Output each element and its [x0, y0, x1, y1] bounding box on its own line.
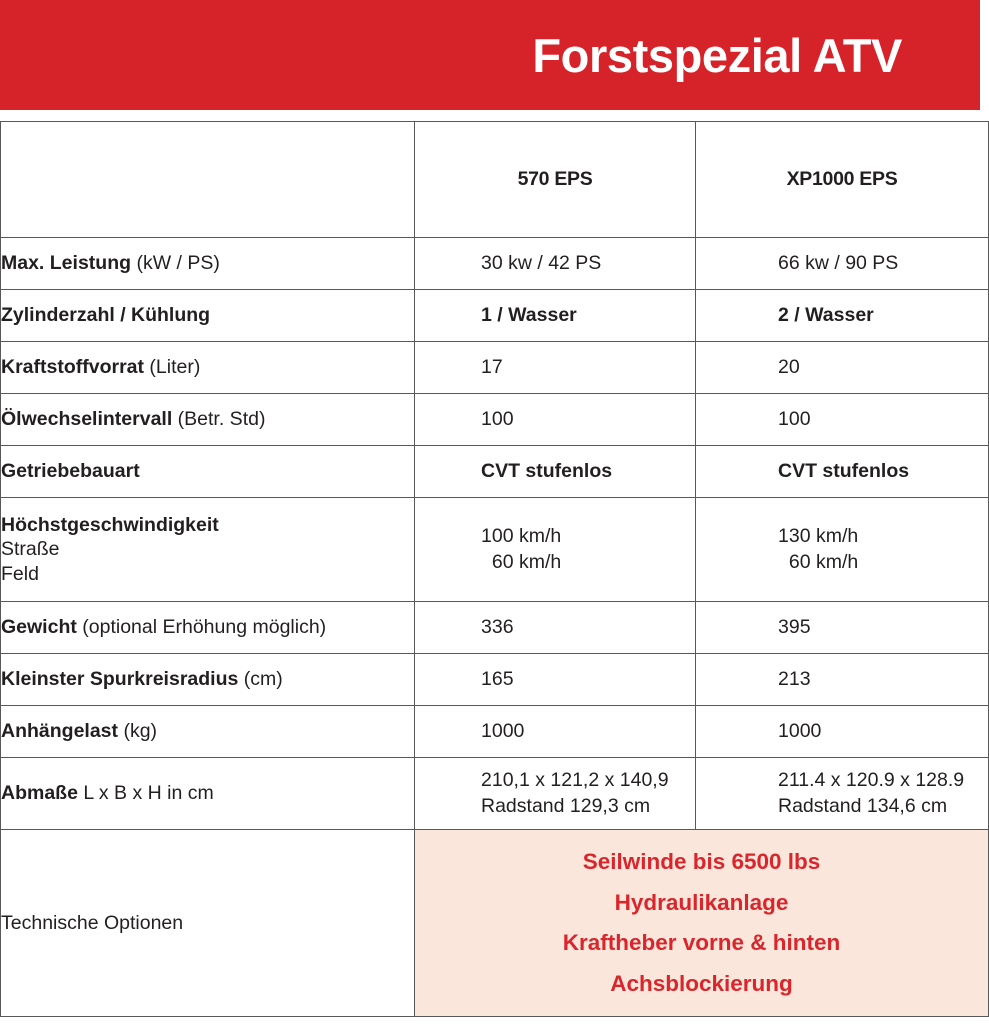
row-value-model-b: 2 / Wasser — [696, 290, 989, 342]
specification-table: 570 EPS XP1000 EPS Max. Leistung (kW / P… — [0, 121, 989, 1017]
row-value-model-a: 30 kw / 42 PS — [415, 238, 696, 290]
table-row-technical-options: Technische Optionen Seilwinde bis 6500 l… — [1, 830, 989, 1017]
table-row: Kleinster Spurkreisradius (cm) 165 213 — [1, 654, 989, 706]
row-value-model-a: 100 — [415, 394, 696, 446]
table-row: Kraftstoffvorrat (Liter) 17 20 — [1, 342, 989, 394]
row-value-model-b: 100 — [696, 394, 989, 446]
row-label-sub-field: Feld — [1, 562, 414, 586]
row-value-model-a: 210,1 x 121,2 x 140,9 Radstand 129,3 cm — [415, 758, 696, 830]
row-label-main: Kleinster Spurkreisradius — [1, 668, 238, 690]
row-value-model-b: 395 — [696, 602, 989, 654]
speed-road-b: 130 km/h — [778, 524, 858, 549]
table-row: Gewicht (optional Erhöhung möglich) 336 … — [1, 602, 989, 654]
dimension-values-b: 211.4 x 120.9 x 128.9 Radstand 134,6 cm — [778, 768, 964, 819]
row-label-main: Anhängelast — [1, 720, 118, 742]
row-label: Abmaße L x B x H in cm — [1, 758, 415, 830]
speed-values-b: 130 km/h 60 km/h — [778, 524, 858, 575]
row-value-model-a: 336 — [415, 602, 696, 654]
dimension-lwh-a: 210,1 x 121,2 x 140,9 — [481, 768, 669, 793]
table-row-dimensions: Abmaße L x B x H in cm 210,1 x 121,2 x 1… — [1, 758, 989, 830]
row-value-model-a: CVT stufenlos — [415, 446, 696, 498]
row-value-model-b: CVT stufenlos — [696, 446, 989, 498]
row-value-model-a: 1 / Wasser — [415, 290, 696, 342]
speed-field-a: 60 km/h — [481, 550, 561, 575]
row-label: Gewicht (optional Erhöhung möglich) — [1, 602, 415, 654]
row-label: Ölwechselintervall (Betr. Std) — [1, 394, 415, 446]
dimension-values-a: 210,1 x 121,2 x 140,9 Radstand 129,3 cm — [481, 768, 669, 819]
table-row: Anhängelast (kg) 1000 1000 — [1, 706, 989, 758]
row-label-main: Kraftstoffvorrat — [1, 356, 144, 378]
row-label-main: Höchstgeschwindigkeit — [1, 514, 219, 536]
row-label-unit: (cm) — [238, 668, 282, 690]
row-label: Kleinster Spurkreisradius (cm) — [1, 654, 415, 706]
row-label-main: Abmaße — [1, 782, 78, 804]
options-list: Seilwinde bis 6500 lbs Hydraulikanlage K… — [415, 830, 989, 1017]
row-label-main: Gewicht — [1, 616, 77, 638]
row-label-sub-road: Straße — [1, 537, 414, 561]
speed-values-a: 100 km/h 60 km/h — [481, 524, 561, 575]
speed-field-b: 60 km/h — [778, 550, 858, 575]
page-header-banner: Forstspezial ATV — [0, 0, 980, 110]
row-value-model-a: 100 km/h 60 km/h — [415, 498, 696, 602]
option-item: Hydraulikanlage — [415, 883, 988, 924]
row-value-model-b: 1000 — [696, 706, 989, 758]
page-title: Forstspezial ATV — [532, 32, 902, 79]
header-cell-empty — [1, 122, 415, 238]
row-label-unit: (Liter) — [144, 356, 200, 378]
row-value-model-b: 66 kw / 90 PS — [696, 238, 989, 290]
row-value-model-b: 213 — [696, 654, 989, 706]
row-label-unit: (kg) — [118, 720, 157, 742]
row-label: Getriebebauart — [1, 446, 415, 498]
row-label: Kraftstoffvorrat (Liter) — [1, 342, 415, 394]
row-label-main: Zylinderzahl / Kühlung — [1, 304, 210, 326]
table-row-top-speed: Höchstgeschwindigkeit Straße Feld 100 km… — [1, 498, 989, 602]
row-value-model-b: 130 km/h 60 km/h — [696, 498, 989, 602]
row-label: Höchstgeschwindigkeit Straße Feld — [1, 498, 415, 602]
row-value-model-a: 17 — [415, 342, 696, 394]
dimension-lwh-b: 211.4 x 120.9 x 128.9 — [778, 768, 964, 793]
wheelbase-a: Radstand 129,3 cm — [481, 794, 669, 819]
option-item: Seilwinde bis 6500 lbs — [415, 842, 988, 883]
column-header-model-a: 570 EPS — [415, 122, 696, 238]
speed-road-a: 100 km/h — [481, 524, 561, 549]
option-item: Kraftheber vorne & hinten — [415, 923, 988, 964]
row-label: Max. Leistung (kW / PS) — [1, 238, 415, 290]
column-header-model-b: XP1000 EPS — [696, 122, 989, 238]
row-label-unit: (optional Erhöhung möglich) — [77, 616, 326, 638]
row-label-unit: L x B x H in cm — [78, 782, 214, 804]
table-row: Zylinderzahl / Kühlung 1 / Wasser 2 / Wa… — [1, 290, 989, 342]
row-label-main: Getriebebauart — [1, 460, 140, 482]
option-item: Achsblockierung — [415, 964, 988, 1005]
row-label-main: Max. Leistung — [1, 252, 131, 274]
row-label: Anhängelast (kg) — [1, 706, 415, 758]
options-label: Technische Optionen — [1, 830, 415, 1017]
row-value-model-a: 1000 — [415, 706, 696, 758]
row-label-unit: (Betr. Std) — [172, 408, 265, 430]
table-header-row: 570 EPS XP1000 EPS — [1, 122, 989, 238]
row-label-unit: (kW / PS) — [131, 252, 220, 274]
row-value-model-a: 165 — [415, 654, 696, 706]
wheelbase-b: Radstand 134,6 cm — [778, 794, 964, 819]
table-row: Ölwechselintervall (Betr. Std) 100 100 — [1, 394, 989, 446]
row-value-model-b: 20 — [696, 342, 989, 394]
table-row: Max. Leistung (kW / PS) 30 kw / 42 PS 66… — [1, 238, 989, 290]
row-label-main: Ölwechselintervall — [1, 408, 172, 430]
table-row: Getriebebauart CVT stufenlos CVT stufenl… — [1, 446, 989, 498]
row-value-model-b: 211.4 x 120.9 x 128.9 Radstand 134,6 cm — [696, 758, 989, 830]
row-label: Zylinderzahl / Kühlung — [1, 290, 415, 342]
